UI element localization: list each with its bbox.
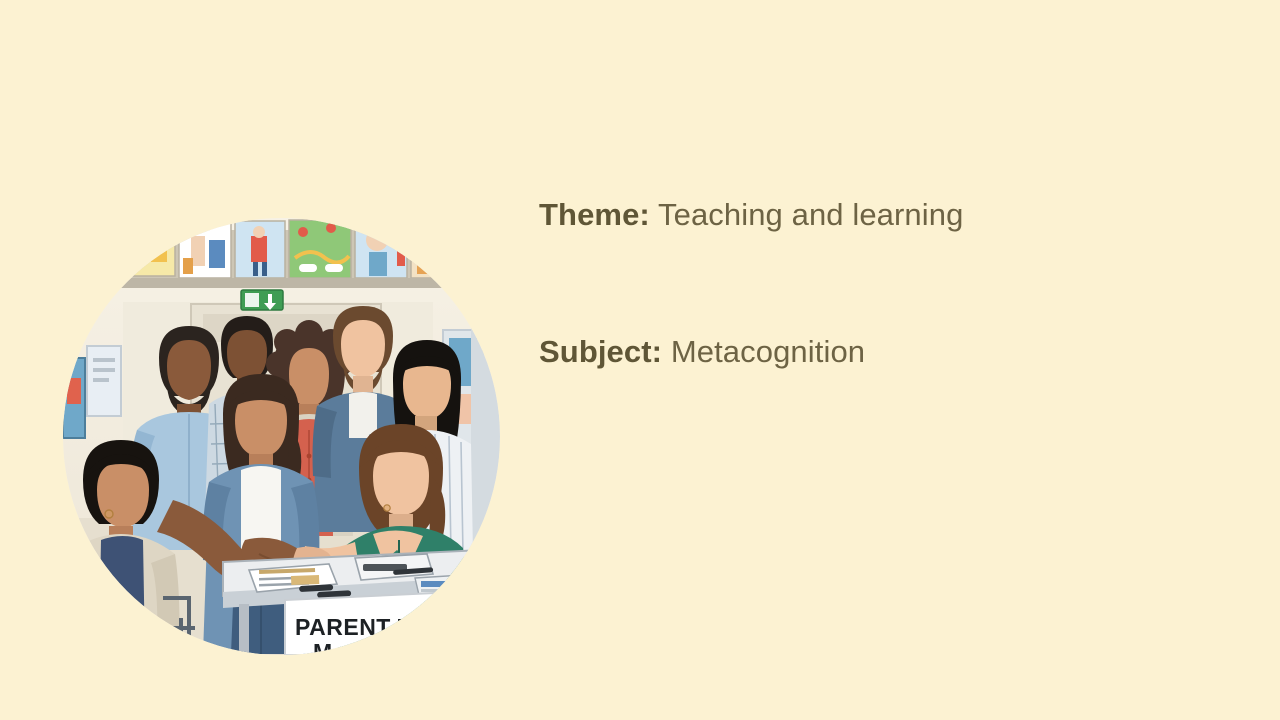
slide-text-block: Theme: Teaching and learning Subject: Me…: [539, 196, 1239, 372]
parent-teacher-banner: PARENT-TE M: [285, 590, 500, 655]
theme-value: Teaching and learning: [658, 197, 963, 232]
parent-teacher-meeting-illustration: PARENT-TE M: [63, 218, 500, 655]
wall-shelf: [121, 278, 451, 288]
illustration-svg: PARENT-TE M: [63, 218, 500, 655]
banner-text: PARENT-TE: [295, 614, 428, 640]
text-spacer: [539, 235, 1239, 333]
banner-subtext: M: [313, 639, 332, 655]
theme-line: Theme: Teaching and learning: [539, 196, 1239, 235]
right-wall-panel: [471, 318, 500, 578]
subject-value: Metacognition: [671, 334, 865, 369]
theme-label: Theme:: [539, 197, 650, 232]
emergency-exit-sign: [241, 290, 283, 310]
slide-canvas: PARENT-TE M Theme: Teaching and learning…: [0, 0, 1280, 720]
subject-label: Subject:: [539, 334, 662, 369]
subject-line: Subject: Metacognition: [539, 333, 1239, 372]
